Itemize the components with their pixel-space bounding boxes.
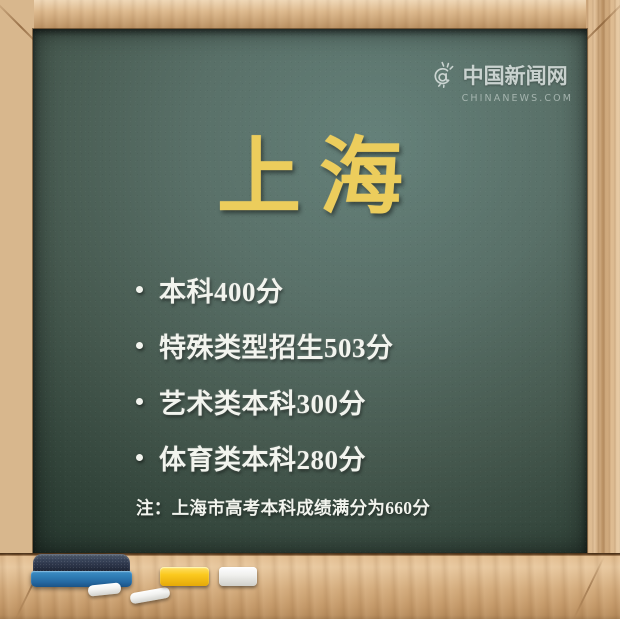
watermark-brand-cn: 中国新闻网 [463,66,568,87]
list-item: 艺术类本科300分 [136,373,547,429]
list-item-label: 特殊类型招生503分 [159,326,394,365]
list-item: 体育类本科280分 [136,429,547,485]
frame-rail-top [0,0,620,30]
watermark-brand-url: CHINANEWS.COM [462,93,573,104]
bullet-dot-icon [136,454,143,461]
bullet-dot-icon [136,342,143,349]
frame-rail-left [0,0,34,619]
footnote: 注：上海市高考本科成绩满分为660分 [136,495,430,520]
ledge-seam-right [573,556,606,619]
list-item: 本科400分 [136,261,547,317]
list-item-label: 本科400分 [159,270,284,309]
list-item-label: 艺术类本科300分 [159,382,366,421]
at-logo-icon [428,61,458,91]
chalkboard-surface: 中国新闻网 CHINANEWS.COM 上海 本科400分 特殊类型招生503分… [33,29,587,554]
page-title: 上海 [33,134,587,223]
list-item: 特殊类型招生503分 [136,317,547,373]
bullet-dot-icon [136,398,143,405]
chalk-stick-yellow [160,567,209,586]
chalk-stick-white [219,567,257,586]
bullet-dot-icon [136,286,143,293]
score-list: 本科400分 特殊类型招生503分 艺术类本科300分 体育类本科280分 [136,261,547,485]
frame-rail-right [586,0,620,619]
chinanews-watermark: 中国新闻网 CHINANEWS.COM [428,61,573,104]
list-item-label: 体育类本科280分 [159,438,366,477]
watermark-row: 中国新闻网 [428,61,568,91]
chalkboard-poster: 中国新闻网 CHINANEWS.COM 上海 本科400分 特殊类型招生503分… [0,0,620,619]
